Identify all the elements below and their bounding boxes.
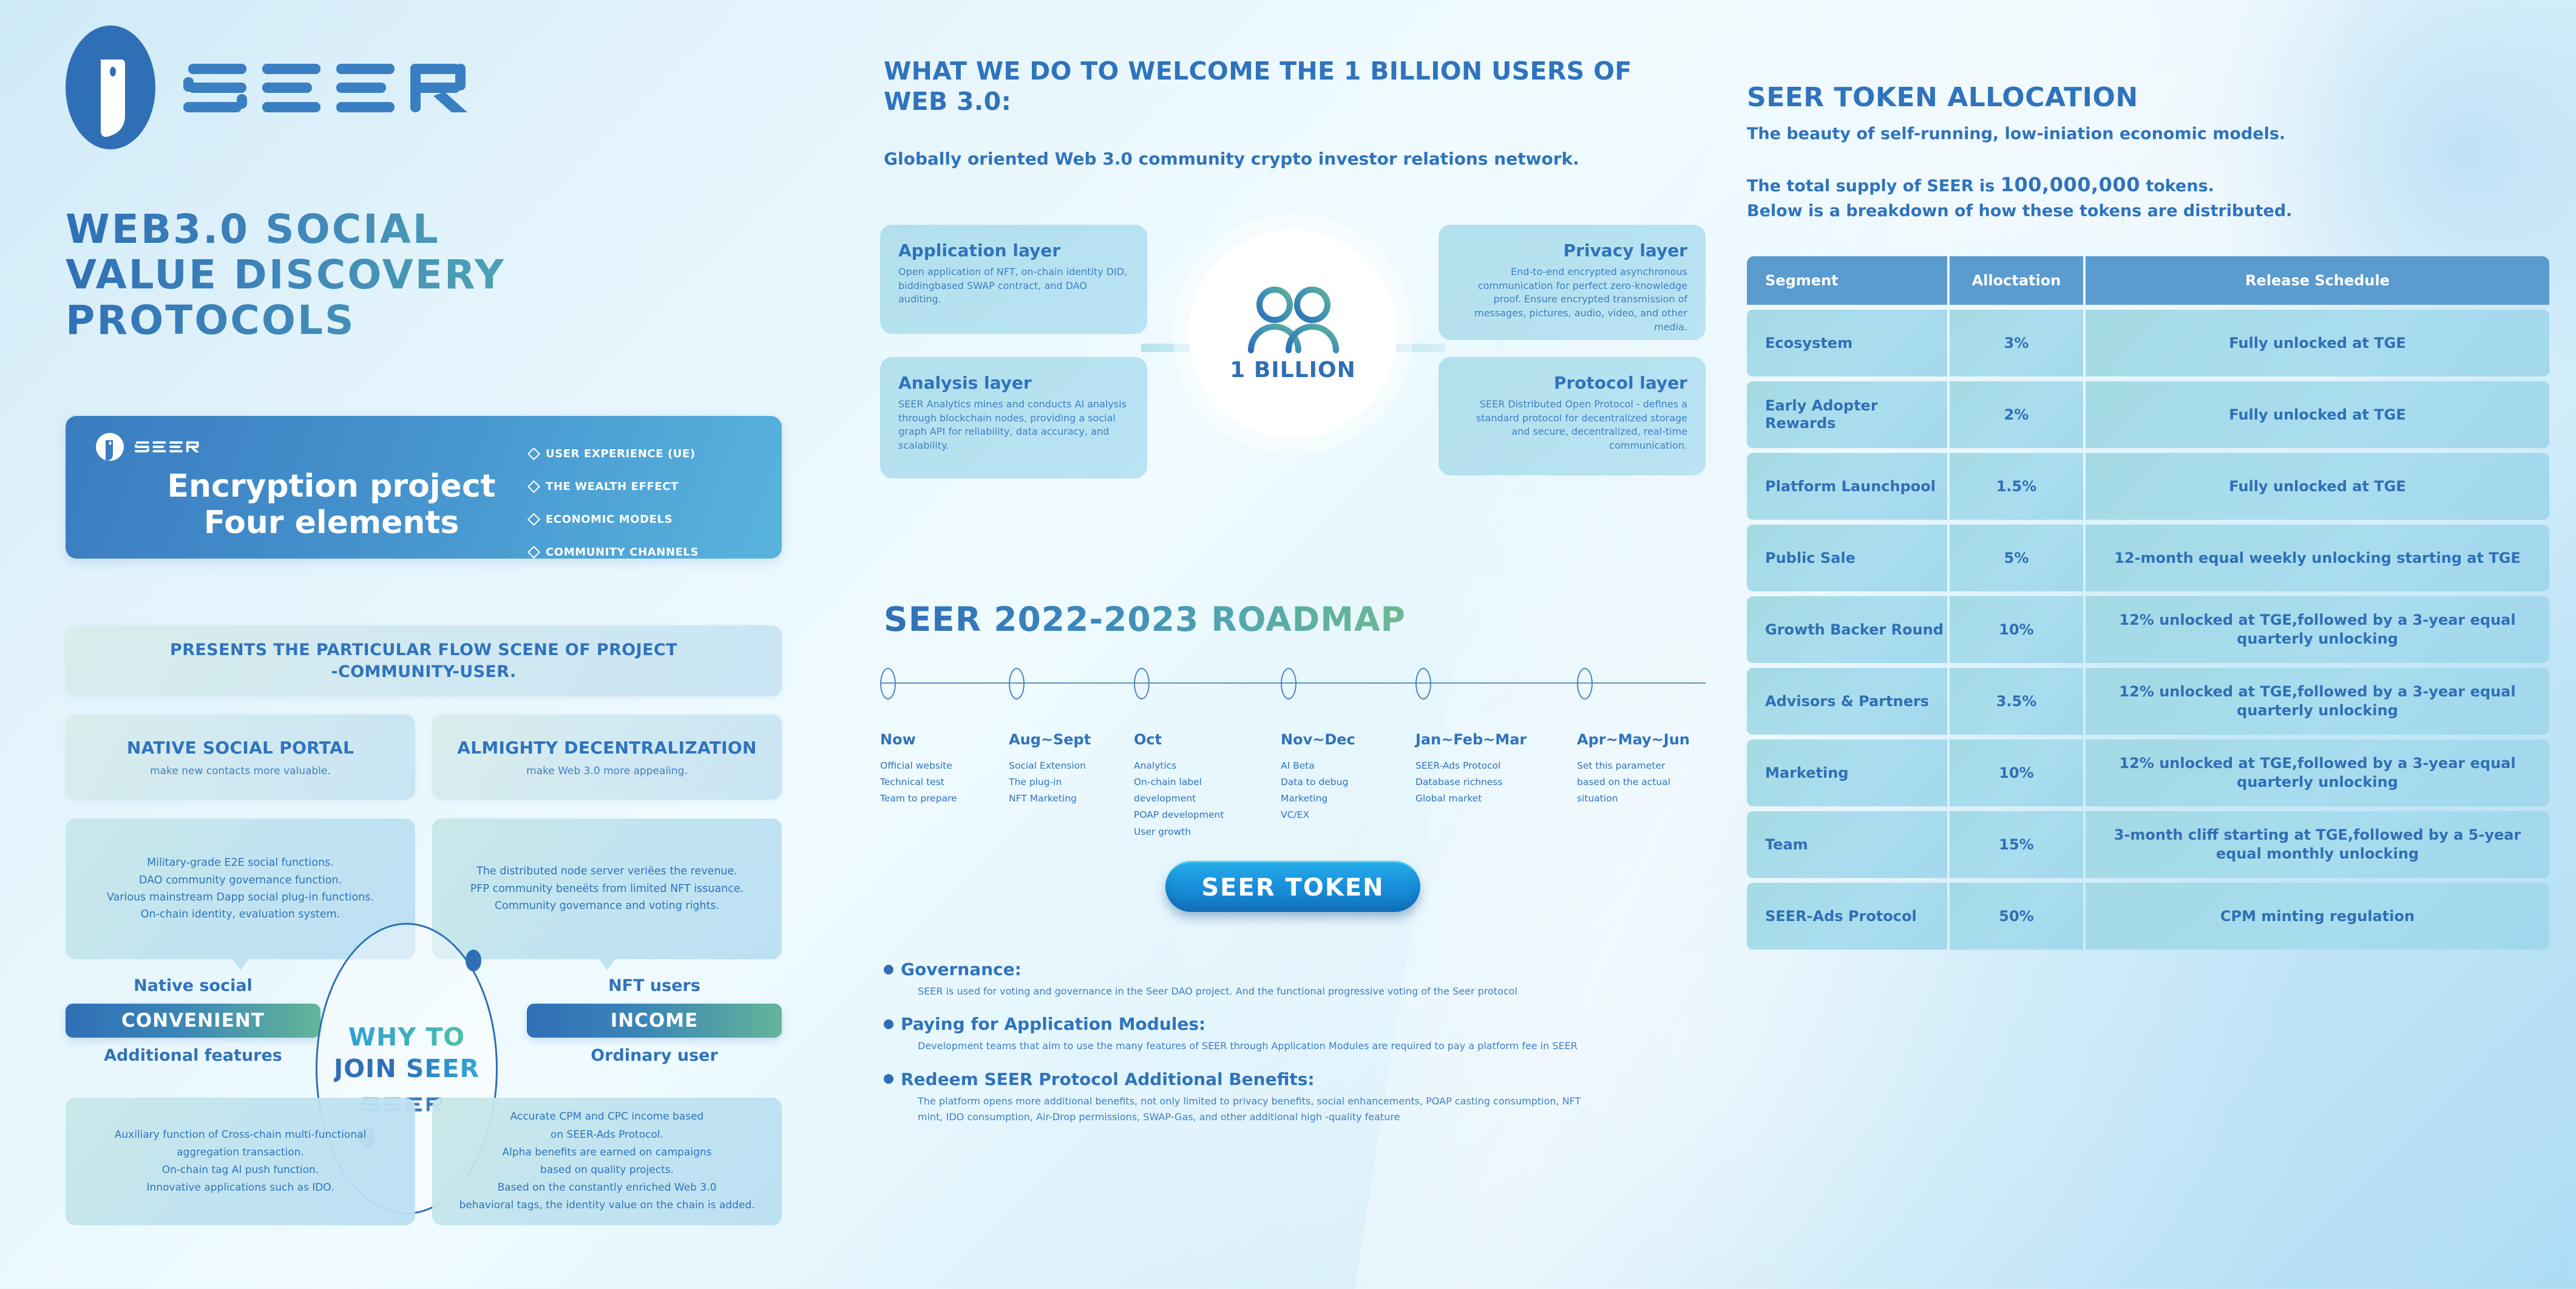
table-row: Ecosystem 3% Fully unlocked at TGE — [1747, 310, 2549, 376]
roadmap-milestone: Aug~Sept Social Extension The plug-in NF… — [1009, 668, 1130, 807]
milestone-item: development — [1134, 791, 1255, 807]
column-header-release-schedule: Release Schedule — [2086, 256, 2549, 305]
cell-segment: Ecosystem — [1747, 310, 1947, 376]
right-group-bottom-label: Ordinary user — [527, 1046, 782, 1065]
feature-line: DAO community governance function. — [107, 872, 374, 889]
detail-line: on SEER-Ads Protocol. — [459, 1126, 754, 1144]
roadmap-title: SEER 2022-2023 ROADMAP — [884, 600, 1406, 639]
middle-column: WHAT WE DO TO WELCOME THE 1 BILLION USER… — [874, 0, 1712, 1289]
milestone-period: Aug~Sept — [1009, 731, 1130, 748]
utility-item: Paying for Application Modules: Developm… — [884, 1014, 1697, 1054]
column-header-segment: Segment — [1747, 256, 1947, 305]
roadmap-milestone: Apr~May~Jun Set this parameter based on … — [1577, 668, 1698, 807]
milestone-items: Analytics On-chain label development POA… — [1134, 758, 1255, 840]
diamond-bullet-icon — [527, 513, 540, 526]
allocation-title: SEER TOKEN ALLOCATION — [1747, 82, 2138, 113]
left-group-bottom-label: Additional features — [66, 1046, 320, 1065]
detail-line: based on quality projects. — [459, 1161, 754, 1179]
milestone-item: Social Extension — [1009, 758, 1130, 774]
encryption-card-title-line-2: Four elements — [101, 505, 562, 541]
table-row: Marketing 10% 12% unlocked at TGE,follow… — [1747, 740, 2549, 806]
native-social-portal-card: NATIVE SOCIAL PORTAL make new contacts m… — [66, 715, 415, 800]
additional-features-box: Auxiliary function of Cross-chain multi-… — [66, 1098, 415, 1225]
brand-lockup — [66, 26, 499, 150]
convenient-pill[interactable]: CONVENIENT — [66, 1004, 320, 1038]
milestone-item: The plug-in — [1009, 774, 1130, 791]
feature-line: PFP community beneëts from limited NFT i… — [470, 880, 744, 897]
milestone-items: Social Extension The plug-in NFT Marketi… — [1009, 758, 1130, 807]
utility-body: Development teams that aim to use the ma… — [918, 1038, 1598, 1054]
oval-node-dot-top — [466, 950, 481, 971]
milestone-item: On-chain label — [1134, 774, 1255, 791]
right-group-top-label: NFT users — [527, 976, 782, 995]
layer-body: SEER Distributed Open Protocol - defines… — [1457, 398, 1687, 453]
ordinary-user-box: Accurate CPM and CPC income based on SEE… — [432, 1098, 782, 1225]
utility-item: Governance: SEER is used for voting and … — [884, 959, 1697, 999]
page-title-line-1: WEB3.0 SOCIAL — [66, 206, 842, 252]
milestone-items: SEER-Ads Protocol Database richness Glob… — [1415, 758, 1555, 807]
analysis-layer-box: Analysis layer SEER Analytics mines and … — [880, 357, 1147, 478]
milestone-period: Nov~Dec — [1281, 731, 1402, 748]
flow-scene-banner: PRESENTS THE PARTICULAR FLOW SCENE OF PR… — [66, 625, 782, 696]
cell-schedule: 12% unlocked at TGE,followed by a 3-year… — [2086, 740, 2549, 806]
cell-segment: Early Adopter Rewards — [1747, 381, 1947, 448]
bullet-dot-icon — [884, 1019, 893, 1029]
supply-line-2: Below is a breakdown of how these tokens… — [1747, 199, 2292, 224]
diamond-bullet-icon — [527, 480, 540, 493]
cell-segment: SEER-Ads Protocol — [1747, 883, 1947, 950]
cell-segment: Advisors & Partners — [1747, 668, 1947, 735]
portal-decentralization-row: NATIVE SOCIAL PORTAL make new contacts m… — [66, 715, 782, 800]
table-row: SEER-Ads Protocol 50% CPM minting regula… — [1747, 883, 2549, 950]
feature-line: Military-grade E2E social functions. — [107, 854, 374, 871]
milestone-period: Now — [880, 731, 1002, 748]
table-row: Advisors & Partners 3.5% 12% unlocked at… — [1747, 668, 2549, 735]
allocation-supply-text: The total supply of SEER is 100,000,000 … — [1747, 170, 2292, 224]
cell-segment: Growth Backer Round — [1747, 596, 1947, 663]
milestone-item: Data to debug — [1281, 774, 1402, 791]
milestone-items: AI Beta Data to debug Marketing VC/EX — [1281, 758, 1402, 824]
cell-schedule: Fully unlocked at TGE — [2086, 381, 2549, 448]
timeline-node-icon — [1009, 668, 1025, 699]
card-brand-lockup — [96, 433, 206, 461]
card-heading: NATIVE SOCIAL PORTAL — [127, 738, 354, 758]
detail-line: Auxiliary function of Cross-chain multi-… — [115, 1126, 366, 1144]
right-column: SEER TOKEN ALLOCATION The beauty of self… — [1736, 0, 2576, 1289]
cell-allocation: 3.5% — [1950, 668, 2083, 735]
element-label: THE WEALTH EFFECT — [546, 480, 679, 493]
cell-allocation: 15% — [1950, 811, 2083, 878]
cell-allocation: 5% — [1950, 525, 2083, 591]
diamond-bullet-icon — [527, 447, 540, 460]
welcome-subheading: Globally oriented Web 3.0 community cryp… — [884, 149, 1691, 169]
cell-schedule: 12% unlocked at TGE,followed by a 3-year… — [2086, 668, 2549, 735]
milestone-item: Marketing — [1281, 791, 1402, 807]
allocation-table: Segment Alloctation Release Schedule Eco… — [1747, 256, 2549, 950]
table-row: Early Adopter Rewards 2% Fully unlocked … — [1747, 381, 2549, 448]
layer-body: Open application of NFT, on-chain identi… — [898, 265, 1129, 307]
layer-body: SEER Analytics mines and conducts AI ana… — [898, 398, 1129, 453]
cell-allocation: 10% — [1950, 596, 2083, 663]
element-list-item: COMMUNITY CHANNELS — [529, 546, 760, 559]
protocol-layer-box: Protocol layer SEER Distributed Open Pro… — [1439, 357, 1706, 475]
cell-segment: Team — [1747, 811, 1947, 878]
milestone-item: Official website — [880, 758, 1002, 774]
feature-line: Community governance and voting rights. — [470, 897, 744, 914]
supply-line-1: The total supply of SEER is 100,000,000 … — [1747, 170, 2292, 199]
milestone-items: Official website Technical test Team to … — [880, 758, 1002, 807]
timeline-node-icon — [1415, 668, 1431, 699]
architecture-layers: Application layer Open application of NF… — [880, 225, 1706, 528]
supply-suffix: tokens. — [2140, 177, 2214, 196]
cell-schedule: CPM minting regulation — [2086, 883, 2549, 950]
card-heading: ALMIGHTY DECENTRALIZATION — [457, 738, 756, 758]
timeline-node-icon — [1577, 668, 1593, 699]
cell-segment: Public Sale — [1747, 525, 1947, 591]
milestone-item: based on the actual — [1577, 774, 1698, 791]
seer-token-button[interactable]: SEER TOKEN — [1165, 861, 1420, 912]
left-user-group: Native social CONVENIENT Additional feat… — [66, 976, 320, 1065]
card-subtext: make Web 3.0 more appealing. — [526, 765, 688, 777]
element-list-item: THE WEALTH EFFECT — [529, 480, 760, 493]
utility-heading: Redeem SEER Protocol Additional Benefits… — [901, 1069, 1315, 1089]
milestone-item: AI Beta — [1281, 758, 1402, 774]
milestone-item: NFT Marketing — [1009, 791, 1130, 807]
income-pill[interactable]: INCOME — [527, 1004, 782, 1038]
nft-users-features-box: The distributed node server veriëes the … — [432, 818, 782, 959]
diamond-bullet-icon — [527, 546, 540, 559]
milestone-item: SEER-Ads Protocol — [1415, 758, 1555, 774]
welcome-heading: WHAT WE DO TO WELCOME THE 1 BILLION USER… — [884, 56, 1691, 117]
native-social-features-box: Military-grade E2E social functions. DAO… — [66, 818, 415, 959]
cell-allocation: 3% — [1950, 310, 2083, 376]
cell-schedule: 12-month equal weekly unlocking starting… — [2086, 525, 2549, 591]
detail-line: Alpha benefits are earned on campaigns — [459, 1144, 754, 1161]
token-utility-list: Governance: SEER is used for voting and … — [884, 959, 1697, 1140]
column-header-allocation: Alloctation — [1950, 256, 2083, 305]
bullet-dot-icon — [884, 1074, 893, 1084]
seer-wordmark — [183, 59, 499, 117]
why-join-line-1: WHY TO — [348, 1022, 465, 1052]
layer-title: Analysis layer — [898, 373, 1129, 393]
detail-line: Innovative applications such as IDO. — [115, 1179, 366, 1197]
detail-line: aggregation transaction. — [115, 1144, 366, 1161]
bullet-dot-icon — [884, 965, 893, 974]
utility-body: The platform opens more additional benef… — [918, 1093, 1598, 1126]
layer-title: Protocol layer — [1457, 373, 1687, 393]
roadmap-milestone: Jan~Feb~Mar SEER-Ads Protocol Database r… — [1415, 668, 1555, 807]
seer-bird-logo-icon — [66, 26, 155, 150]
encryption-project-card: Encryption project Four elements USER EX… — [66, 416, 782, 559]
one-billion-users-badge: 1 BILLION — [1188, 230, 1397, 438]
flow-banner-line-1: PRESENTS THE PARTICULAR FLOW SCENE OF PR… — [170, 639, 677, 661]
encryption-card-title: Encryption project Four elements — [101, 468, 562, 542]
layer-body: End-to-end encrypted asynchronous commun… — [1457, 265, 1687, 335]
left-column: WEB3.0 SOCIAL VALUE DISCOVERY PROTOCOLS — [0, 0, 868, 1289]
roadmap-milestone: Nov~Dec AI Beta Data to debug Marketing … — [1281, 668, 1402, 824]
cell-segment: Marketing — [1747, 740, 1947, 806]
detail-line: Accurate CPM and CPC income based — [459, 1108, 754, 1126]
cell-allocation: 50% — [1950, 883, 2083, 950]
milestone-item: POAP development — [1134, 807, 1255, 823]
table-row: Team 15% 3-month cliff starting at TGE,f… — [1747, 811, 2549, 878]
milestone-item: Global market — [1415, 791, 1555, 807]
milestone-period: Apr~May~Jun — [1577, 731, 1698, 748]
flow-banner-line-2: -COMMUNITY-USER. — [170, 661, 677, 683]
cell-allocation: 1.5% — [1950, 453, 2083, 520]
supply-prefix: The total supply of SEER is — [1747, 177, 2001, 196]
roadmap-milestone: Now Official website Technical test Team… — [880, 668, 1002, 807]
milestone-item: Technical test — [880, 774, 1002, 791]
detail-line: behavioral tags, the identity value on t… — [459, 1197, 754, 1214]
feature-line: The distributed node server veriëes the … — [470, 863, 744, 880]
table-row: Public Sale 5% 12-month equal weekly unl… — [1747, 525, 2549, 591]
utility-item: Redeem SEER Protocol Additional Benefits… — [884, 1069, 1697, 1126]
table-row: Growth Backer Round 10% 12% unlocked at … — [1747, 596, 2549, 663]
milestone-items: Set this parameter based on the actual s… — [1577, 758, 1698, 807]
two-users-icon — [1241, 286, 1344, 354]
milestone-item: Set this parameter — [1577, 758, 1698, 774]
milestone-item: Analytics — [1134, 758, 1255, 774]
timeline-node-icon — [880, 668, 896, 699]
page-title: WEB3.0 SOCIAL VALUE DISCOVERY PROTOCOLS — [66, 206, 842, 344]
one-billion-label: 1 BILLION — [1230, 358, 1355, 383]
layer-title: Privacy layer — [1457, 240, 1687, 260]
application-layer-box: Application layer Open application of NF… — [880, 225, 1147, 334]
supply-number: 100,000,000 — [2001, 173, 2140, 196]
milestone-item: Database richness — [1415, 774, 1555, 791]
table-row: Platform Launchpool 1.5% Fully unlocked … — [1747, 453, 2549, 520]
milestone-item: VC/EX — [1281, 807, 1402, 823]
left-group-top-label: Native social — [66, 976, 320, 995]
page-title-line-3: PROTOCOLS — [66, 298, 842, 343]
element-label: ECONOMIC MODELS — [546, 513, 673, 526]
seer-wordmark-small — [135, 439, 206, 455]
element-label: COMMUNITY CHANNELS — [546, 546, 699, 559]
why-join-line-2: JOIN SEER — [334, 1054, 480, 1083]
feature-line: Various mainstream Dapp social plug-in f… — [107, 889, 374, 906]
page-title-line-2: VALUE DISCOVERY — [66, 252, 842, 298]
detail-line: Based on the constantly enriched Web 3.0 — [459, 1179, 754, 1197]
almighty-decentralization-card: ALMIGHTY DECENTRALIZATION make Web 3.0 m… — [432, 715, 782, 800]
milestone-item: situation — [1577, 791, 1698, 807]
cell-segment: Platform Launchpool — [1747, 453, 1947, 520]
cell-schedule: Fully unlocked at TGE — [2086, 453, 2549, 520]
allocation-subtitle: The beauty of self-running, low-iniation… — [1747, 124, 2285, 143]
milestone-period: Jan~Feb~Mar — [1415, 731, 1555, 748]
utility-heading: Paying for Application Modules: — [901, 1014, 1205, 1034]
utility-body: SEER is used for voting and governance i… — [918, 984, 1598, 999]
element-label: USER EXPERIENCE (UE) — [546, 447, 696, 460]
seer-bird-logo-icon-small — [96, 433, 124, 461]
cell-allocation: 10% — [1950, 740, 2083, 806]
cell-schedule: Fully unlocked at TGE — [2086, 310, 2549, 376]
milestone-period: Oct — [1134, 731, 1255, 748]
bottom-detail-row: Auxiliary function of Cross-chain multi-… — [66, 1098, 782, 1225]
right-user-group: NFT users INCOME Ordinary user — [527, 976, 782, 1065]
element-list-item: USER EXPERIENCE (UE) — [529, 447, 760, 460]
encryption-card-title-line-1: Encryption project — [101, 468, 562, 505]
milestone-item: User growth — [1134, 824, 1255, 840]
cell-allocation: 2% — [1950, 381, 2083, 448]
card-subtext: make new contacts more valuable. — [150, 765, 331, 777]
utility-heading: Governance: — [901, 959, 1022, 979]
privacy-layer-box: Privacy layer End-to-end encrypted async… — [1439, 225, 1706, 340]
feature-line: On-chain identity, evaluation system. — [107, 906, 374, 923]
layer-title: Application layer — [898, 240, 1129, 260]
detail-line: On-chain tag AI push function. — [115, 1161, 366, 1179]
roadmap-milestone: Oct Analytics On-chain label development… — [1134, 668, 1255, 840]
timeline-node-icon — [1134, 668, 1150, 699]
element-list-item: ECONOMIC MODELS — [529, 513, 760, 526]
cell-schedule: 12% unlocked at TGE,followed by a 3-year… — [2086, 596, 2549, 663]
timeline-node-icon — [1281, 668, 1296, 699]
cell-schedule: 3-month cliff starting at TGE,followed b… — [2086, 811, 2549, 878]
table-header-row: Segment Alloctation Release Schedule — [1747, 256, 2549, 305]
encryption-card-element-list: USER EXPERIENCE (UE) THE WEALTH EFFECT E… — [529, 447, 760, 579]
roadmap-milestones: Now Official website Technical test Team… — [880, 668, 1706, 826]
milestone-item: Team to prepare — [880, 791, 1002, 807]
